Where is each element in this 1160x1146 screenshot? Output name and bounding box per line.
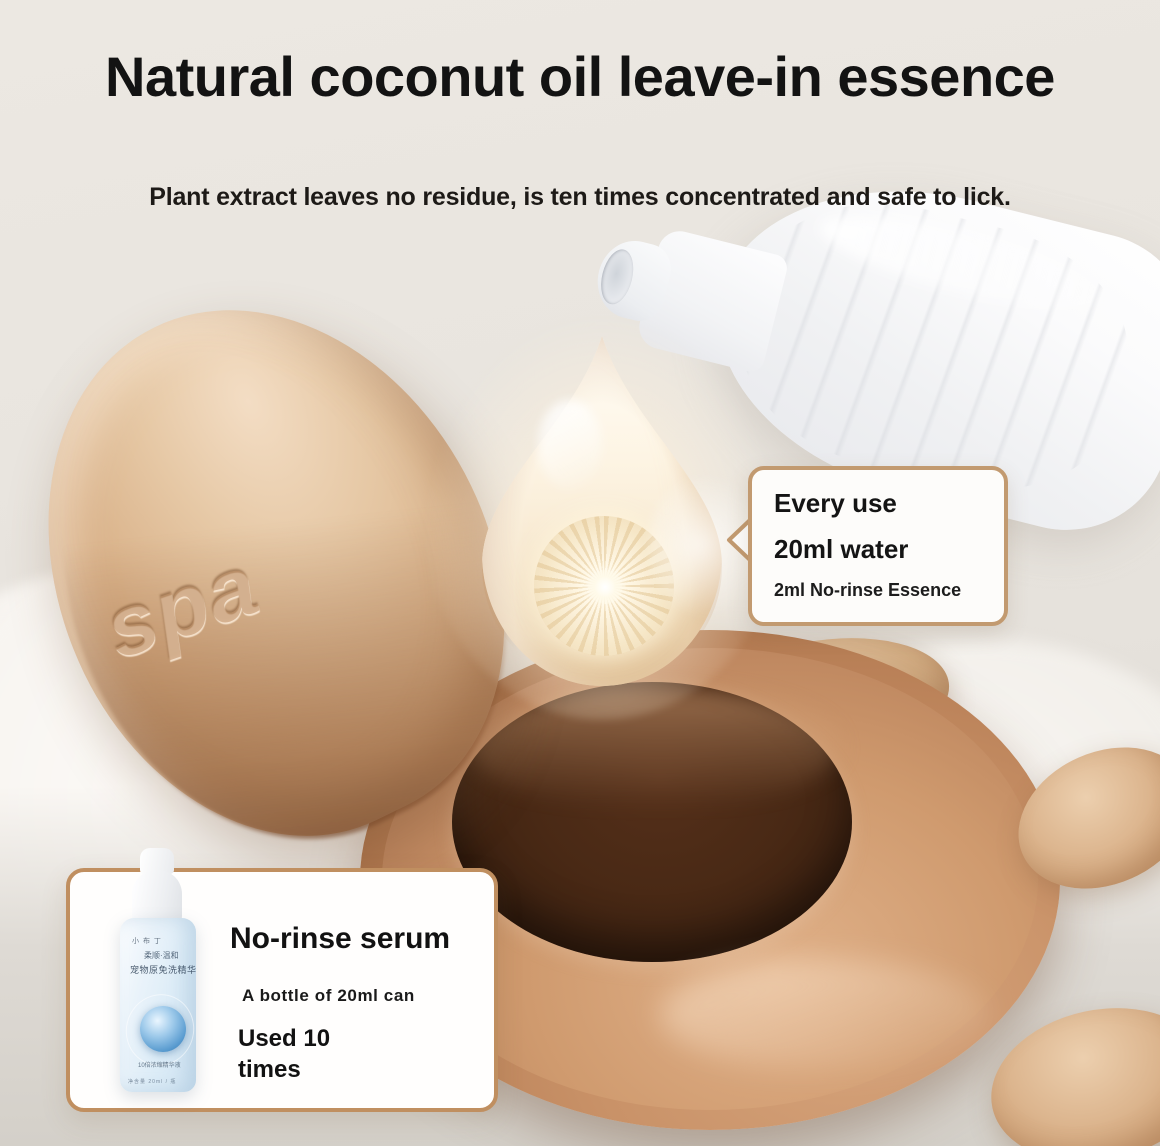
product-poster: spa Natural coconut oil leave-in essence… xyxy=(0,0,1160,1146)
dosage-callout: Every use 20ml water 2ml No-rinse Essenc… xyxy=(748,466,1008,626)
serum-bottle-label-orb xyxy=(140,1006,186,1052)
callout-line-essence-amount: 2ml No-rinse Essence xyxy=(774,580,961,601)
serum-bottle-label-line1: 柔顺·温和 xyxy=(144,950,179,961)
product-card-title: No-rinse serum xyxy=(230,922,450,956)
oil-droplet xyxy=(452,330,752,700)
serum-bottle-label-line2: 宠物原免洗精华液 xyxy=(130,963,196,976)
pet-bowl-surface-highlight xyxy=(660,960,990,1070)
serum-bottle-body: 小 布 丁 柔顺·温和 宠物原免洗精华液 10倍浓缩精华液 净含量 20ml /… xyxy=(120,918,196,1092)
product-card-usage-line2: times xyxy=(238,1055,330,1086)
oil-droplet-specular-highlight xyxy=(538,400,602,490)
product-card-usage: Used 10 times xyxy=(238,1024,330,1085)
page-title: Natural coconut oil leave-in essence xyxy=(0,44,1160,109)
serum-bottle: 小 布 丁 柔顺·温和 宠物原免洗精华液 10倍浓缩精华液 净含量 20ml /… xyxy=(110,848,206,1096)
serum-bottle-brand-mark: 小 布 丁 xyxy=(132,936,162,946)
product-card-subtitle: A bottle of 20ml can xyxy=(242,986,415,1006)
coconut-cross-section-core xyxy=(588,570,622,604)
product-card-usage-line1: Used 10 xyxy=(238,1024,330,1055)
page-subtitle: Plant extract leaves no residue, is ten … xyxy=(0,183,1160,212)
serum-bottle-label-footer: 净含量 20ml / 瓶 xyxy=(128,1078,176,1085)
callout-line-every-use: Every use xyxy=(774,488,897,519)
callout-line-water-amount: 20ml water xyxy=(774,534,908,565)
serum-bottle-label-line3: 10倍浓缩精华液 xyxy=(138,1060,181,1069)
